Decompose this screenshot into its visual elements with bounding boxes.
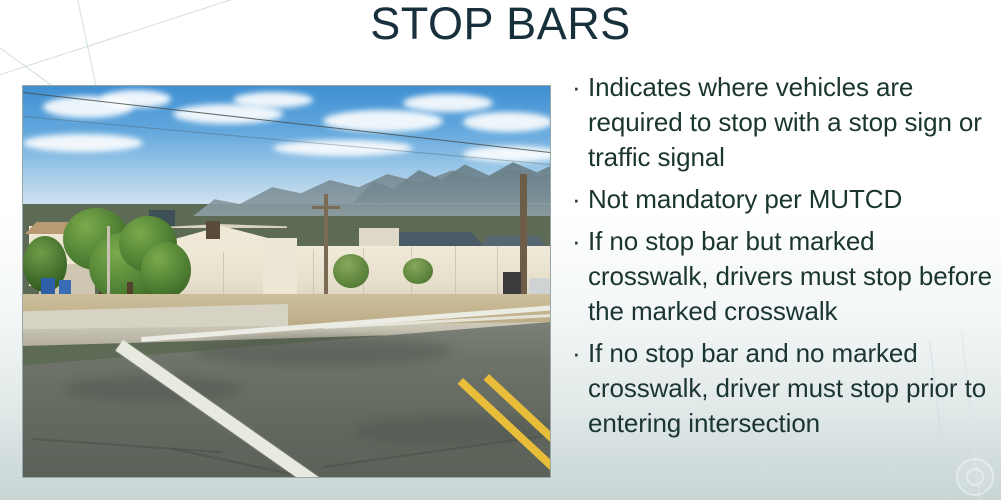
road-stain xyxy=(63,376,243,402)
bullet-dot-icon: · xyxy=(572,224,588,259)
utility-pole xyxy=(324,194,328,306)
street-photo-canvas xyxy=(23,86,550,477)
list-item: · Indicates where vehicles are required … xyxy=(572,70,992,175)
bullet-dot-icon: · xyxy=(572,182,588,217)
cloud xyxy=(403,94,493,112)
wall-seam xyxy=(497,246,498,294)
bullet-dot-icon: · xyxy=(572,336,588,371)
cloud xyxy=(23,134,143,152)
utility-pole-crossarm xyxy=(312,206,340,209)
list-item: · If no stop bar but marked crosswalk, d… xyxy=(572,224,992,329)
trash-bin xyxy=(41,278,55,294)
utility-pole xyxy=(520,174,527,306)
bullet-dot-icon: · xyxy=(572,70,588,105)
bullet-list: · Indicates where vehicles are required … xyxy=(572,70,992,448)
wall-seam xyxy=(455,246,456,296)
list-item: · If no stop bar and no marked crosswalk… xyxy=(572,336,992,441)
tree xyxy=(141,242,191,298)
street-photo xyxy=(23,86,550,477)
cloud xyxy=(273,140,413,156)
circular-logo-watermark-icon xyxy=(956,458,994,496)
shrub xyxy=(403,258,433,284)
chimney xyxy=(206,221,220,239)
cloud xyxy=(233,92,313,108)
trash-bin xyxy=(503,272,521,294)
bullet-text: Indicates where vehicles are required to… xyxy=(588,70,992,175)
shrub xyxy=(333,254,369,288)
road-stain xyxy=(193,336,453,366)
trash-bin xyxy=(59,280,71,294)
bullet-text: If no stop bar but marked crosswalk, dri… xyxy=(588,224,992,329)
list-item: · Not mandatory per MUTCD xyxy=(572,182,992,217)
slide-title: STOP BARS xyxy=(0,0,1001,50)
presentation-slide: STOP BARS xyxy=(0,0,1001,500)
cloud xyxy=(463,112,550,132)
bullet-text: Not mandatory per MUTCD xyxy=(588,182,992,217)
bullet-text: If no stop bar and no marked crosswalk, … xyxy=(588,336,992,441)
